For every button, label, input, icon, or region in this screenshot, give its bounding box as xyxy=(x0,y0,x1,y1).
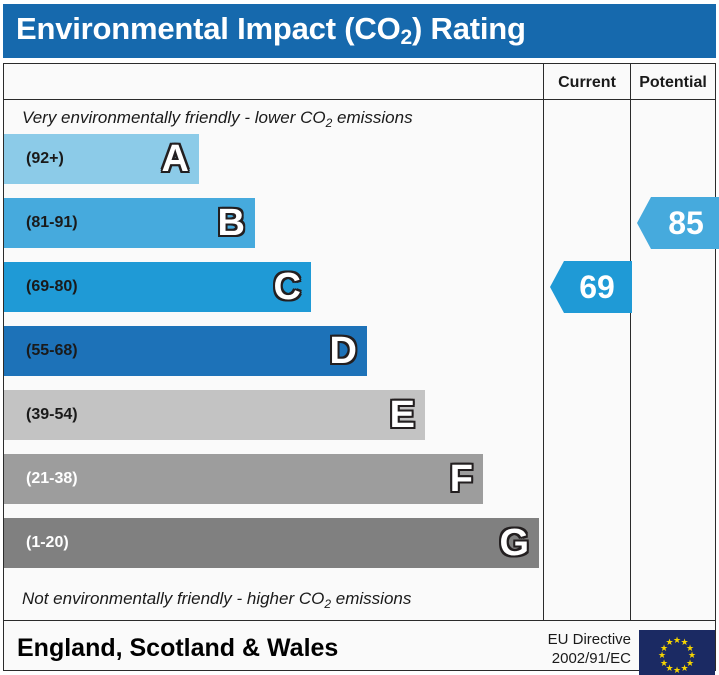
band-letter-d: D xyxy=(330,332,357,370)
caption-bottom-post: emissions xyxy=(331,589,411,608)
page-title-subscript: 2 xyxy=(401,26,412,49)
current-column-divider xyxy=(543,64,544,620)
rating-value-potential: 85 xyxy=(656,207,704,239)
rating-band-e: (39-54)E xyxy=(4,390,425,440)
footer-directive: EU Directive 2002/91/EC xyxy=(527,631,631,669)
footer-directive-line1: EU Directive xyxy=(527,631,631,650)
column-header-current: Current xyxy=(544,72,630,94)
band-range-label: (55-68) xyxy=(26,342,78,360)
rating-band-d: (55-68)D xyxy=(4,326,367,376)
eu-flag-icon xyxy=(639,630,715,675)
rating-arrow-potential: 85 xyxy=(637,197,719,249)
band-range-label: (1-20) xyxy=(26,534,69,552)
footer-region-label: England, Scotland & Wales xyxy=(17,634,338,663)
header-divider xyxy=(4,99,715,100)
caption-top-post: emissions xyxy=(332,108,412,127)
band-letter-g: G xyxy=(499,524,529,562)
rating-arrow-current: 69 xyxy=(550,261,632,313)
rating-value-current: 69 xyxy=(567,271,615,303)
band-range-label: (21-38) xyxy=(26,470,78,488)
header-banner: Environmental Impact (CO2) Rating xyxy=(3,4,716,58)
caption-top: Very environmentally friendly - lower CO… xyxy=(22,108,413,128)
column-header-potential: Potential xyxy=(631,72,715,94)
band-range-label: (92+) xyxy=(26,150,64,168)
caption-top-pre: Very environmentally friendly - lower CO xyxy=(22,108,326,127)
footer-divider xyxy=(4,620,715,621)
footer-directive-line2: 2002/91/EC xyxy=(527,650,631,669)
band-letter-c: C xyxy=(274,268,301,306)
epc-environmental-impact-certificate: Environmental Impact (CO2) Rating Curren… xyxy=(0,0,719,675)
rating-table: Current Potential Very environmentally f… xyxy=(3,63,716,671)
caption-bottom-subscript: 2 xyxy=(324,597,331,611)
page-title-post: ) Rating xyxy=(412,11,526,46)
rating-band-a: (92+)A xyxy=(4,134,199,184)
page-title: Environmental Impact (CO2) Rating xyxy=(16,11,526,47)
band-letter-b: B xyxy=(218,204,245,242)
caption-bottom: Not environmentally friendly - higher CO… xyxy=(22,589,411,609)
band-letter-e: E xyxy=(390,396,415,434)
caption-top-subscript: 2 xyxy=(326,116,333,130)
rating-band-b: (81-91)B xyxy=(4,198,255,248)
page-title-pre: Environmental Impact (CO xyxy=(16,11,401,46)
rating-band-f: (21-38)F xyxy=(4,454,483,504)
potential-column-divider xyxy=(630,64,631,620)
rating-band-c: (69-80)C xyxy=(4,262,311,312)
band-range-label: (81-91) xyxy=(26,214,78,232)
band-letter-f: F xyxy=(450,460,473,498)
band-range-label: (69-80) xyxy=(26,278,78,296)
band-range-label: (39-54) xyxy=(26,406,78,424)
caption-bottom-pre: Not environmentally friendly - higher CO xyxy=(22,589,324,608)
rating-band-g: (1-20)G xyxy=(4,518,539,568)
band-letter-a: A xyxy=(162,140,189,178)
